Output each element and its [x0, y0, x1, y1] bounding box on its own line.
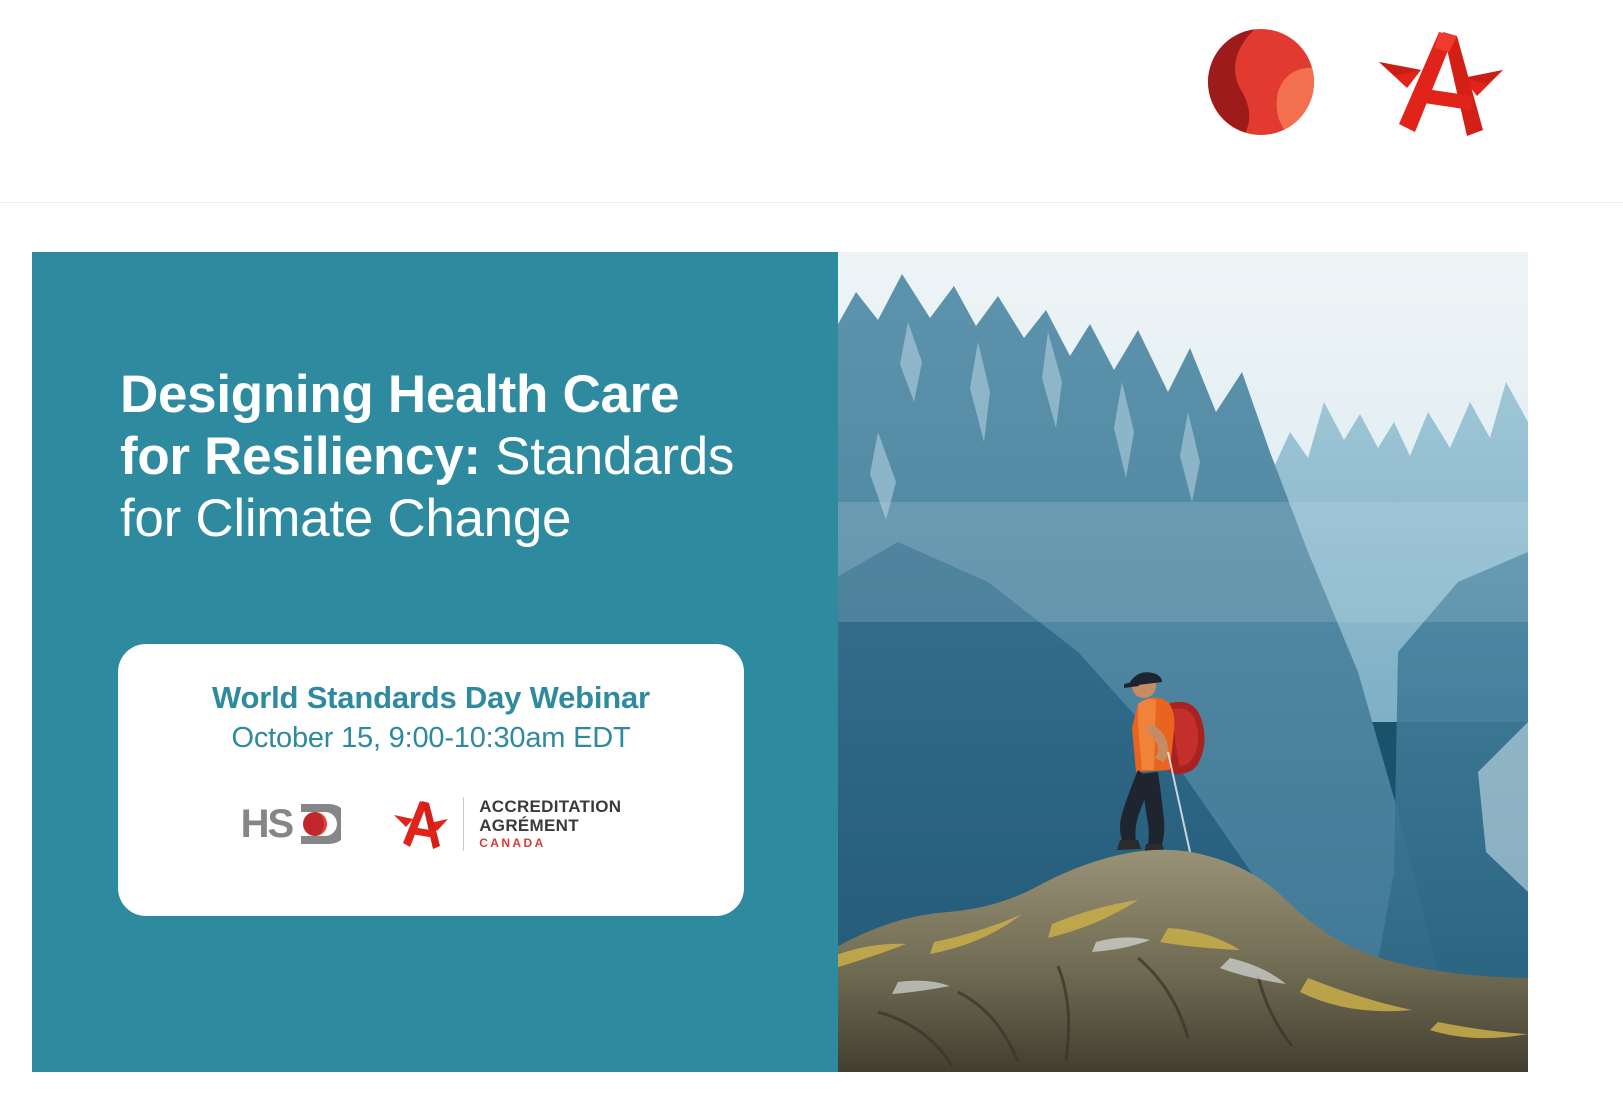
hso-sphere-icon — [295, 802, 341, 846]
ac-line-accreditation: ACCREDITATION — [479, 798, 621, 816]
banner-title-bold-2: for Resiliency: — [120, 427, 481, 486]
banner-title: Designing Health Care for Resiliency: St… — [120, 364, 800, 550]
hso-wordmark-logo: HS — [241, 802, 342, 846]
banner-title-light-1: Standards — [481, 427, 734, 486]
webinar-card-heading: World Standards Day Webinar — [118, 680, 744, 716]
card-logo-group: HS — [118, 797, 744, 851]
ac-line-canada: CANADA — [479, 837, 621, 850]
webinar-info-card: World Standards Day Webinar October 15, … — [118, 644, 744, 916]
accreditation-canada-wordmark: ACCREDITATION AGRÉMENT CANADA — [479, 798, 621, 850]
hso-circle-logo — [1207, 28, 1315, 136]
header-logo-group — [1207, 26, 1505, 138]
banner-photo — [838, 252, 1528, 1072]
accreditation-canada-star-logo — [1377, 26, 1505, 138]
banner-title-light-2: for Climate Change — [120, 489, 571, 548]
mountain-hiker-photo — [838, 252, 1528, 1072]
accreditation-canada-star-icon — [393, 799, 449, 849]
banner-left-panel: Designing Health Care for Resiliency: St… — [32, 252, 838, 1072]
atmospheric-haze — [838, 502, 1528, 622]
accreditation-canada-lockup: ACCREDITATION AGRÉMENT CANADA — [393, 797, 621, 851]
webinar-card-date: October 15, 9:00-10:30am EDT — [118, 722, 744, 755]
hso-wordmark-text: HS — [241, 804, 293, 844]
banner-title-bold: Designing Health Care — [120, 365, 679, 424]
ac-line-agrement: AGRÉMENT — [479, 817, 621, 835]
page-header — [0, 0, 1623, 203]
logo-divider — [463, 797, 464, 851]
webinar-banner: Designing Health Care for Resiliency: St… — [32, 252, 1528, 1072]
